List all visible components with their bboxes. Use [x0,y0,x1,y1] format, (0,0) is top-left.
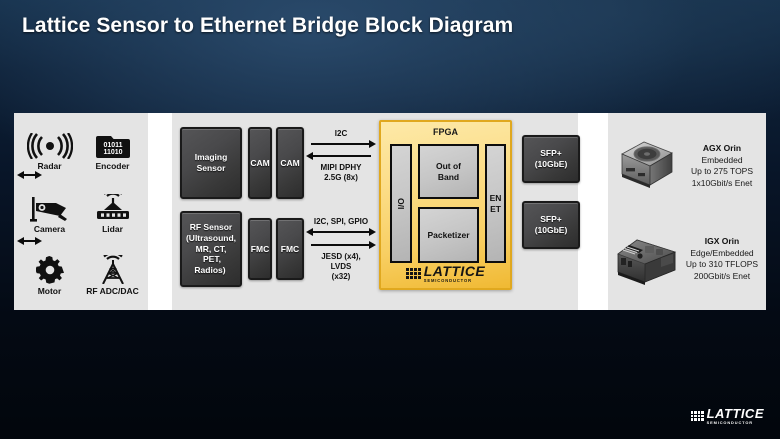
sensor-item-motor: Motor [18,244,81,306]
block-label-line: EN [490,193,502,203]
arrow-i2c-right [306,139,376,148]
block-label: Packetizer [427,230,469,241]
compute-name: AGX Orin [684,143,760,153]
block-label-line: (Ultrasound, [184,233,238,243]
block-label-line: (10GbE) [533,159,570,169]
lattice-dot-matrix-icon [691,411,704,421]
compute-item-igx-orin: IGX Orin Edge/Embedded Up to 310 TFLOPS … [608,217,766,301]
arrow-i2c-spi-gpio-bidirectional [306,227,376,236]
radar-waves-icon [27,129,73,159]
sensor-label: RF ADC/DAC [86,287,139,296]
block-label-line: PET, Radios) [194,254,227,275]
arrow-sfp2-to-igx-orin [17,236,42,245]
arrow-label-i2c: I2C [306,129,376,139]
block-label-line: Out of [436,161,461,171]
block-label: CAM [278,158,301,169]
igx-orin-module-icon [614,230,680,288]
arrow-head-left-icon [17,237,24,245]
arrow-head-right-icon [35,237,42,245]
arrow-label-mipi: MIPI DPHY 2.5G (8x) [306,163,376,183]
arrow-head-right-icon [35,171,42,179]
arrow-label-i2c-spi-gpio: I2C, SPI, GPIO [306,217,376,227]
sensor-item-encoder: 01011 11010 Encoder [81,119,144,181]
block-cam-1: CAM [248,127,272,199]
block-fmc-2: FMC [276,218,304,280]
arrow-head-right-icon [369,241,376,249]
lidar-antenna-icon [93,192,133,222]
block-label-line: SFP+ [538,148,564,158]
sensor-label: Encoder [95,162,129,171]
block-sfp-plus-2: SFP+ (10GbE) [522,201,580,249]
block-rf-sensor: RF Sensor (Ultrasound, MR, CT, PET, Radi… [180,211,242,287]
slide-background: Lattice Sensor to Ethernet Bridge Block … [0,0,780,439]
block-diagram-panel: Imaging Sensor CAM CAM RF Sensor (Ultras… [172,113,578,310]
block-diagram-canvas: Imaging Sensor CAM CAM RF Sensor (Ultras… [172,113,578,310]
arrow-label-jesd: JESD (x4), LVDS (x32) [306,252,376,282]
lattice-logo-name: LATTICE [424,264,486,278]
block-sfp-plus-1: SFP+ (10GbE) [522,135,580,183]
compute-item-agx-orin: AGX Orin Embedded Up to 275 TOPS 1x10Gbi… [608,125,766,207]
block-fmc-1: FMC [248,218,272,280]
block-label-line: MR, CT, [194,244,229,254]
compute-spec-line: Up to 275 TOPS [684,166,760,177]
page-title: Lattice Sensor to Ethernet Bridge Block … [22,14,513,38]
diagram-content-band: Radar 01011 11010 Encoder [14,113,766,310]
fpga-lattice-logo: LATTICE SEMICONDUCTOR [381,264,510,283]
svg-text:01011: 01011 [103,142,122,149]
block-label-line: (10GbE) [533,225,570,235]
panel-divider-right [578,113,608,310]
arrow-head-right-icon [369,228,376,236]
block-label-line: ET [490,204,501,214]
arrow-label-line: MIPI DPHY [321,163,362,172]
block-label: CAM [248,158,271,169]
arrow-head-right-icon [369,140,376,148]
arrow-label-line: (x32) [332,272,351,281]
arrow-jesd-right [306,240,376,249]
rf-tower-icon [94,254,132,284]
gear-icon [36,254,64,284]
block-fpga-enet: EN ET [485,144,506,263]
lattice-logo-icon: LATTICE SEMICONDUCTOR [691,407,764,425]
block-cam-2: CAM [276,127,304,199]
compute-spec-line: 200Gbit/s Enet [684,271,760,282]
sensor-label: Motor [38,287,62,296]
compute-spec-line: 1x10Gbit/s Enet [684,178,760,189]
lattice-dot-matrix-icon [406,268,421,279]
compute-text-igx-orin: IGX Orin Edge/Embedded Up to 310 TFLOPS … [684,236,760,282]
arrow-label-line: JESD (x4), [321,252,361,261]
block-label: I/O [396,198,407,209]
lattice-wordmark: LATTICE SEMICONDUCTOR [424,264,486,283]
arrow-mipi-left [306,151,376,160]
block-label-line: SFP+ [538,214,564,224]
sensor-label: Camera [34,225,65,234]
compute-name: IGX Orin [684,236,760,246]
security-camera-icon [30,192,70,222]
arrow-group-i2c-mipi: I2C MIPI DPHY 2.5G (8x) [306,129,376,183]
block-fpga: FPGA I/O Out of Band Packetizer [379,120,512,290]
sensor-item-lidar: Lidar [81,181,144,243]
sensor-item-camera: Camera [18,181,81,243]
block-label-line: Band [438,172,459,182]
block-label-line: Sensor [195,163,228,173]
arrow-head-left-icon [306,228,313,236]
sensor-label: Lidar [102,225,123,234]
fpga-title: FPGA [381,127,510,137]
sensor-panel: Radar 01011 11010 Encoder [14,113,148,310]
arrow-group-i2c-spi-jesd: I2C, SPI, GPIO JESD (x4), LVDS (x32) [306,217,376,282]
arrow-head-left-icon [306,152,313,160]
block-fpga-out-of-band: Out of Band [418,144,479,199]
block-label-line: RF Sensor [188,222,235,232]
block-label-line: Imaging [193,152,230,162]
lattice-logo-subtitle: SEMICONDUCTOR [424,279,486,283]
sensor-item-rf-adc-dac: RF ADC/DAC [81,244,144,306]
agx-orin-module-icon [614,138,680,194]
block-label: FMC [249,244,271,255]
arrow-head-left-icon [17,171,24,179]
block-imaging-sensor: Imaging Sensor [180,127,242,199]
binary-encoder-icon: 01011 11010 [96,129,130,159]
block-label: FMC [279,244,301,255]
lattice-logo-name: LATTICE [707,407,764,420]
block-fpga-io: I/O [390,144,412,263]
compute-spec-line: Up to 310 TFLOPS [684,259,760,270]
compute-text-agx-orin: AGX Orin Embedded Up to 275 TOPS 1x10Gbi… [684,143,760,189]
lattice-logo-subtitle: SEMICONDUCTOR [707,421,764,425]
arrow-sfp1-to-agx-orin [17,170,42,179]
sensor-grid: Radar 01011 11010 Encoder [14,113,148,310]
panel-divider-left [148,113,172,310]
arrow-label-line: 2.5G (8x) [324,173,358,182]
compute-module-panel: AGX Orin Embedded Up to 275 TOPS 1x10Gbi… [608,113,766,310]
compute-spec-line: Edge/Embedded [684,248,760,259]
svg-text:11010: 11010 [103,149,122,156]
arrow-label-line: LVDS [331,262,352,271]
lattice-wordmark: LATTICE SEMICONDUCTOR [707,407,764,425]
footer-lattice-logo: LATTICE SEMICONDUCTOR [691,407,764,425]
compute-spec-line: Embedded [684,155,760,166]
lattice-logo-icon: LATTICE SEMICONDUCTOR [406,264,486,283]
block-fpga-packetizer: Packetizer [418,207,479,263]
